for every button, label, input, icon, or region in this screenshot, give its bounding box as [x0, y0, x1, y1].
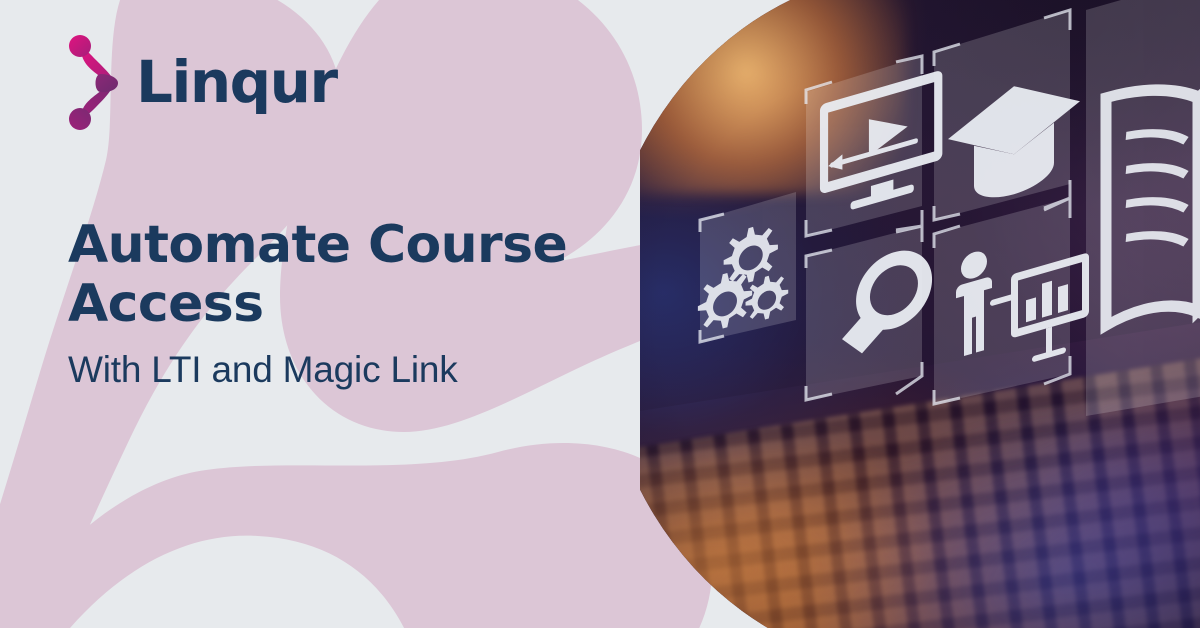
promo-banner: Linqur Automate Course Access With LTI a…: [0, 0, 1200, 628]
headline-line-1: Automate Course: [68, 215, 567, 275]
hero-photo: [640, 0, 1200, 628]
page-title: Automate Course Access: [68, 216, 588, 334]
brand-logo[interactable]: Linqur: [68, 34, 337, 130]
brand-wordmark: Linqur: [136, 53, 337, 111]
headline-line-2: Access: [68, 274, 263, 334]
linqur-node-mark-icon: [68, 34, 122, 130]
hero-photo-clip: [640, 0, 1200, 628]
hud-overlay: [640, 0, 1200, 628]
page-subtitle: With LTI and Magic Link: [68, 348, 628, 392]
